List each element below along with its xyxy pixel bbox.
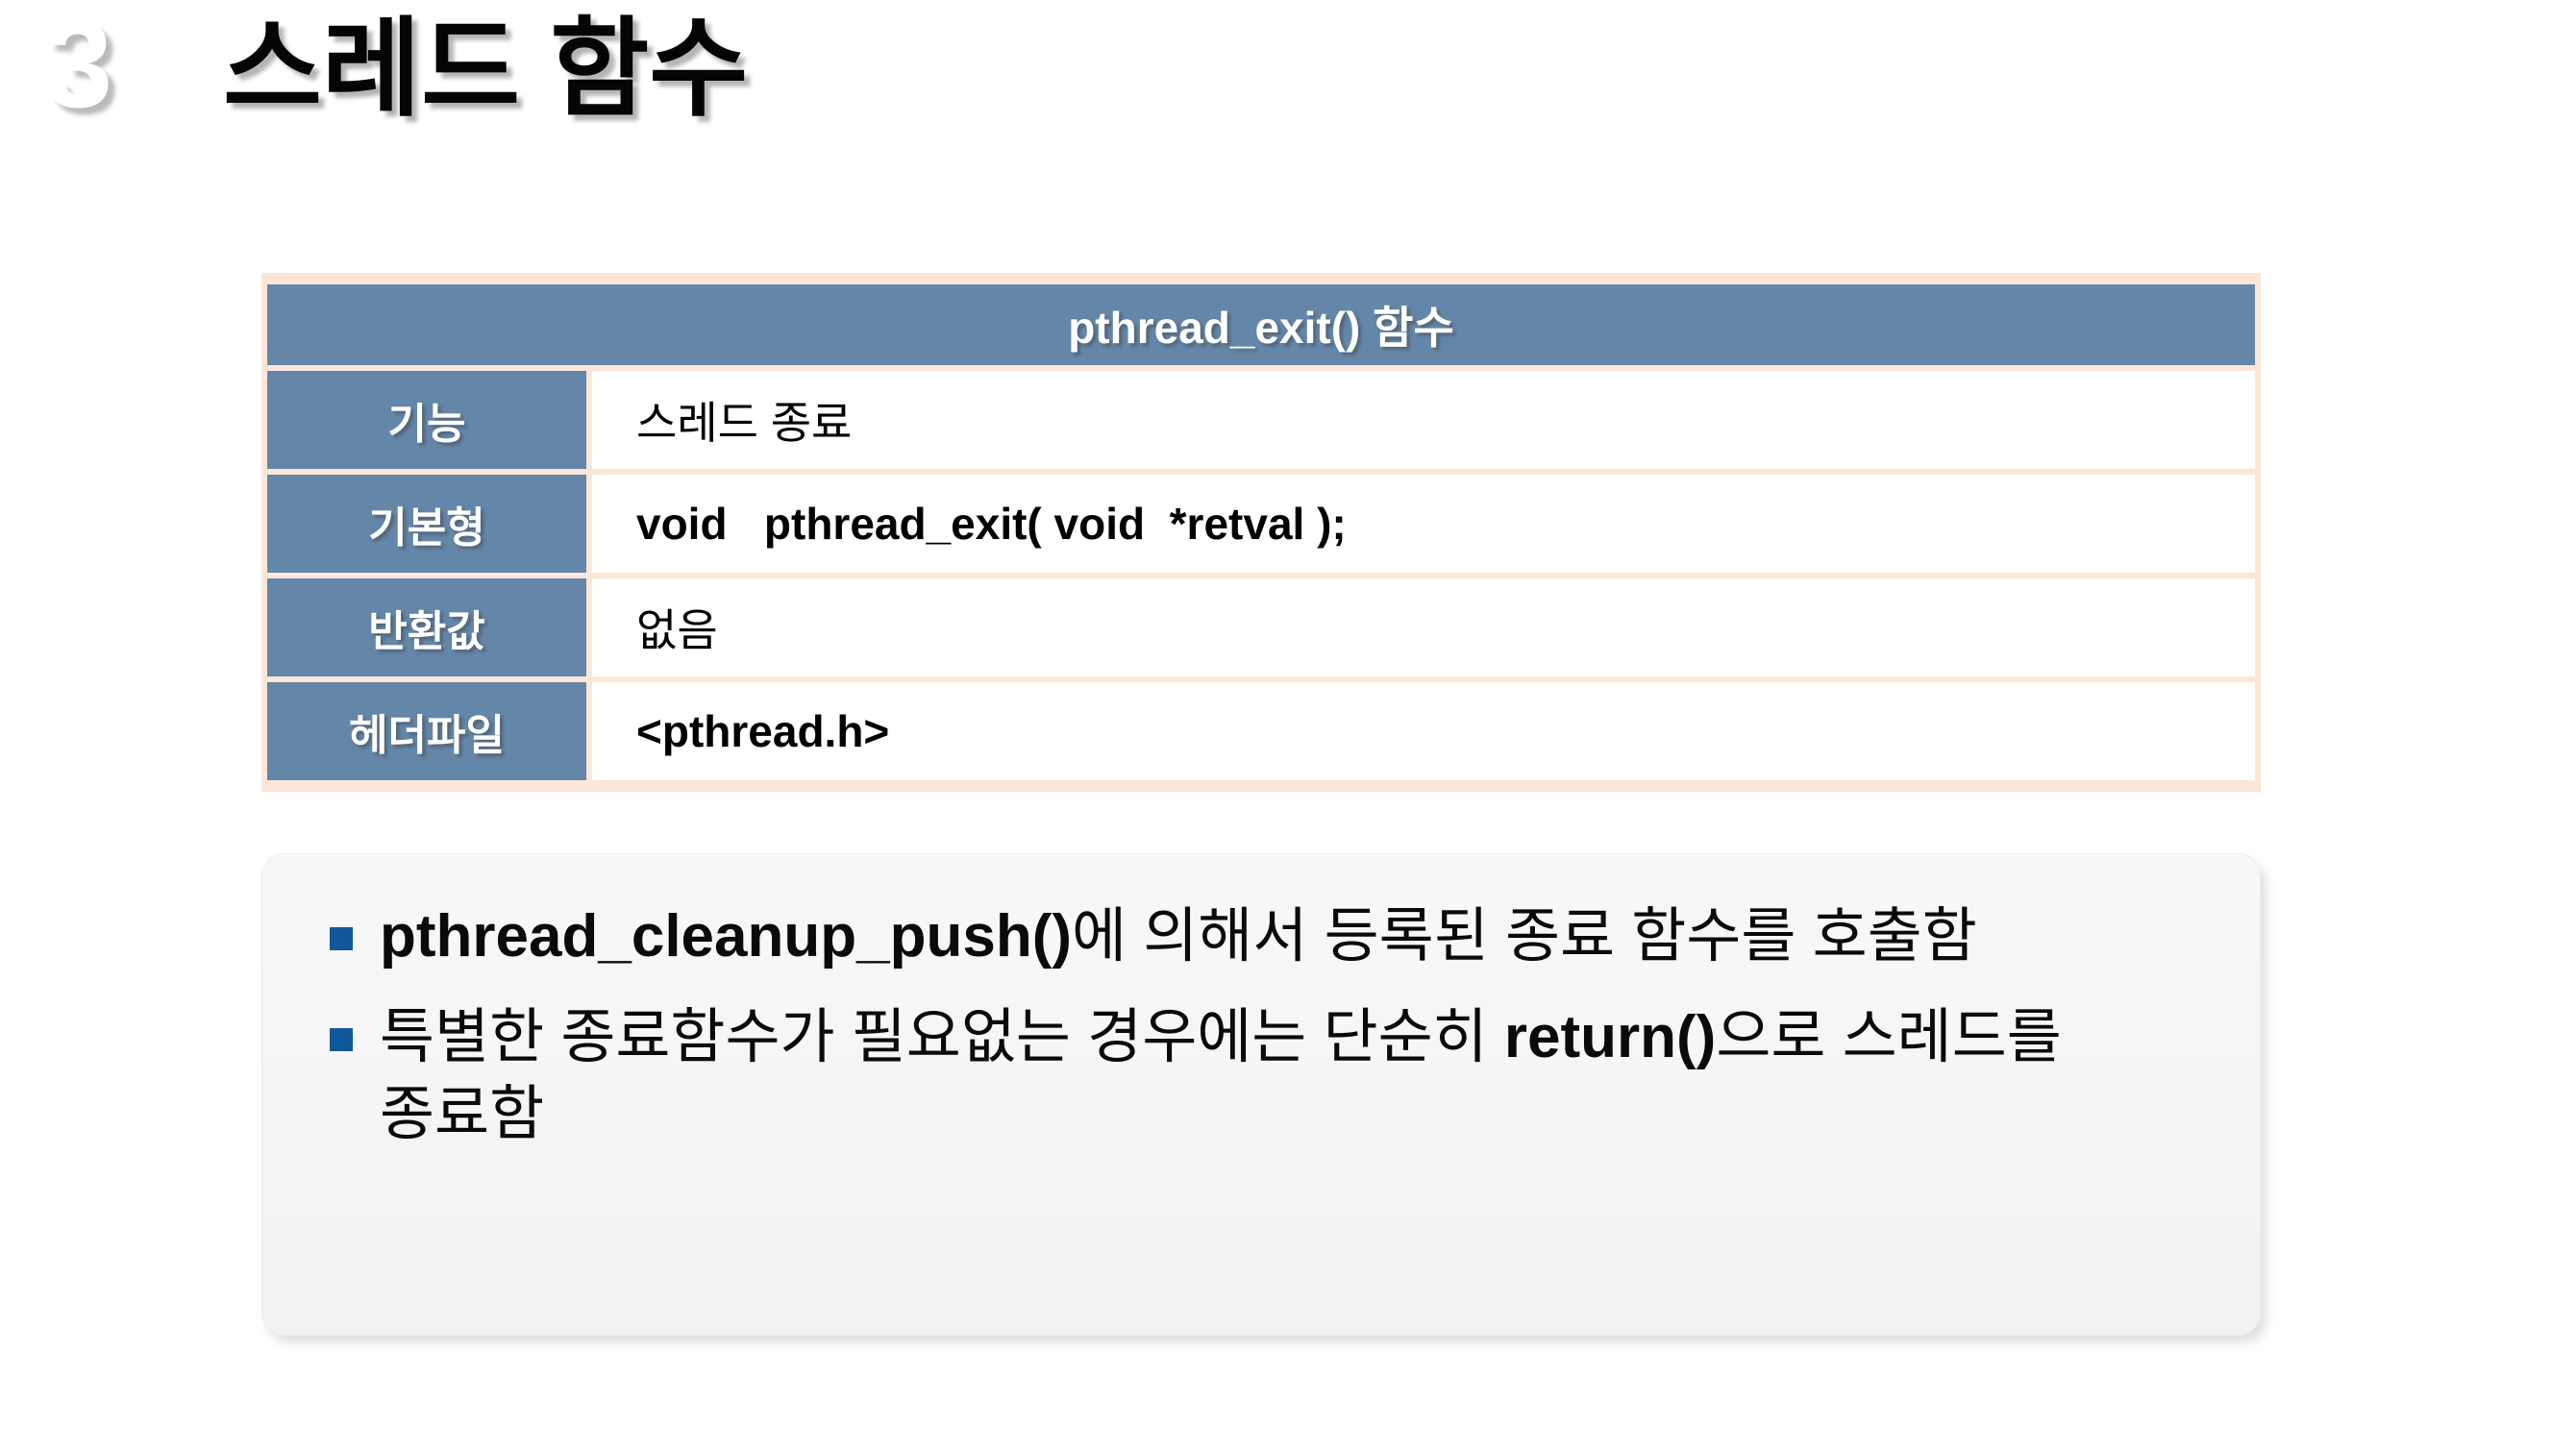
table-row: 헤더파일 <pthread.h> (267, 682, 2255, 780)
function-spec-table-inner: pthread_exit() 함수 기능 스레드 종료 기본형 void pth… (267, 279, 2255, 786)
table-header-row: pthread_exit() 함수 (267, 284, 2255, 365)
square-bullet-icon (330, 1028, 353, 1051)
bullet-1-code: pthread_cleanup_push() (380, 903, 1072, 970)
function-spec-table: pthread_exit() 함수 기능 스레드 종료 기본형 void pth… (261, 273, 2261, 792)
row-value-prototype: void pthread_exit( void *retval ); (592, 475, 2255, 573)
table-header-title: pthread_exit() 함수 (267, 284, 2255, 365)
bullet-text-1: pthread_cleanup_push()에 의해서 등록된 종료 함수를 호… (380, 898, 2100, 974)
row-label-return-value: 반환값 (267, 578, 586, 676)
list-item: 특별한 종료함수가 필요없는 경우에는 단순히 return()으로 스레드를 … (330, 999, 2202, 1152)
row-label-header-file: 헤더파일 (267, 682, 586, 780)
row-value-header-file: <pthread.h> (592, 682, 2255, 780)
slide-number: 3 (44, 4, 112, 127)
table-row: 기능 스레드 종료 (267, 371, 2255, 469)
table-row: 반환값 없음 (267, 578, 2255, 676)
row-label-prototype: 기본형 (267, 475, 586, 573)
bullet-2-lead: 특별한 종료함수가 필요없는 경우에는 단순히 (380, 1004, 1504, 1070)
bullet-1-rest: 에 의해서 등록된 종료 함수를 호출함 (1072, 903, 1977, 970)
row-label-function: 기능 (267, 371, 586, 469)
slide-header: 3 스레드 함수 (0, 0, 2576, 192)
table-row: 기본형 void pthread_exit( void *retval ); (267, 475, 2255, 573)
page-title: 스레드 함수 (223, 8, 748, 132)
bullet-2-code: return() (1504, 1004, 1716, 1070)
row-value-return-value: 없음 (592, 578, 2255, 676)
row-value-function: 스레드 종료 (592, 371, 2255, 469)
list-item: pthread_cleanup_push()에 의해서 등록된 종료 함수를 호… (330, 898, 2202, 974)
notes-panel: pthread_cleanup_push()에 의해서 등록된 종료 함수를 호… (261, 853, 2261, 1336)
bullet-text-2: 특별한 종료함수가 필요없는 경우에는 단순히 return()으로 스레드를 … (380, 999, 2100, 1152)
square-bullet-icon (330, 927, 353, 950)
